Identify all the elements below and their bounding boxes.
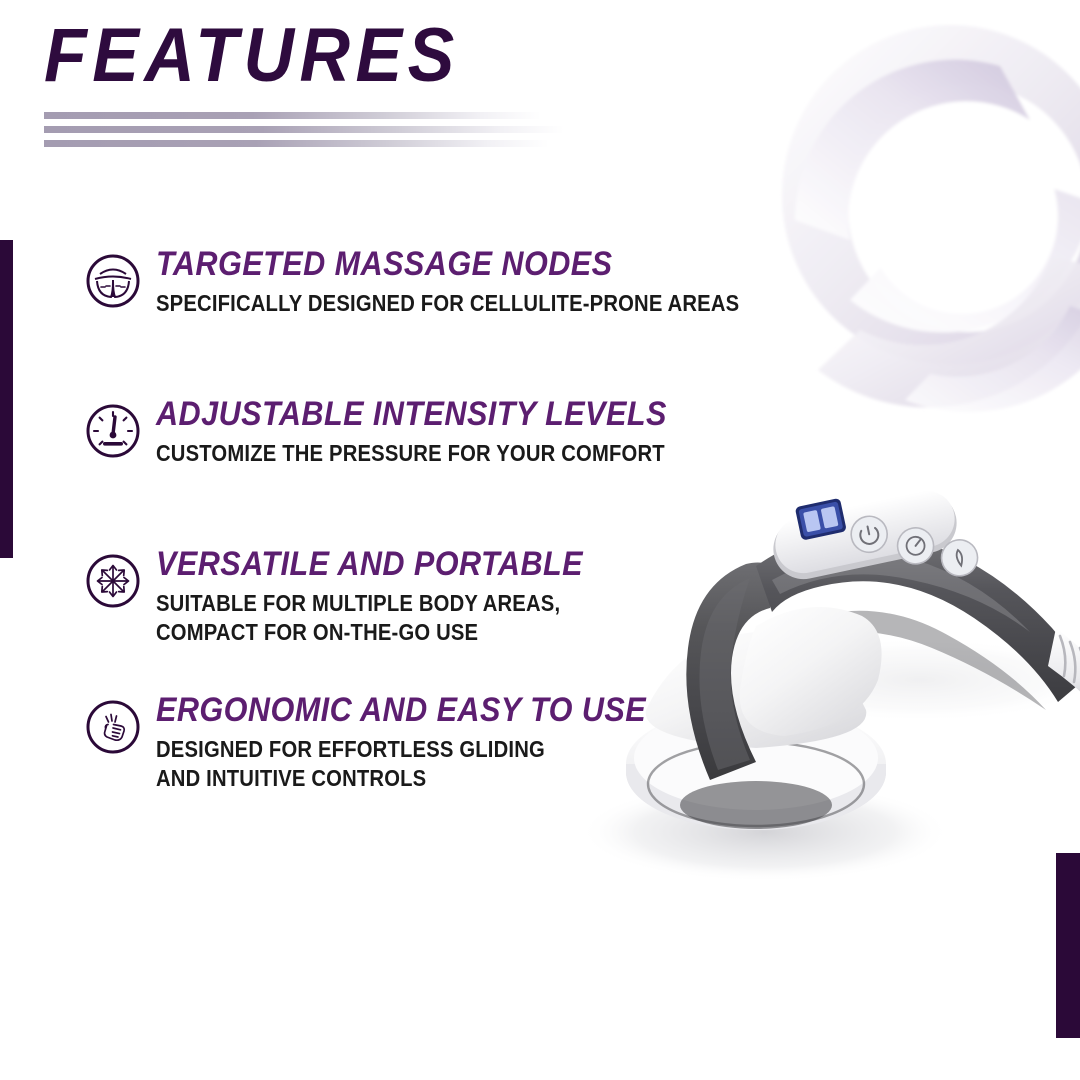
- title-block: FEATURES: [44, 18, 574, 154]
- page-title: FEATURES: [44, 18, 532, 94]
- infographic-canvas: FEATURES TARG: [0, 0, 1080, 1080]
- feature-desc-line: SUITABLE FOR MULTIPLE BODY AREAS,: [156, 589, 638, 618]
- right-accent-bar: [1056, 853, 1080, 1038]
- title-rule-2: [44, 126, 564, 133]
- led-display: [795, 498, 847, 541]
- control-panel: [768, 486, 981, 585]
- feature-desc-line: DESIGNED FOR EFFORTLESS GLIDING: [156, 735, 638, 764]
- feature-text: TARGETED MASSAGE NODES SPECIFICALLY DESI…: [156, 240, 819, 318]
- massager-neck: [740, 607, 882, 736]
- feature-text: VERSATILE AND PORTABLE SUITABLE FOR MULT…: [156, 540, 704, 648]
- feature-item: ERGONOMIC AND EASY TO USE DESIGNED FOR E…: [84, 686, 704, 794]
- title-underline-rules: [44, 112, 574, 147]
- massager-handle: [756, 531, 1080, 710]
- feature-title: ERGONOMIC AND EASY TO USE: [156, 692, 649, 729]
- feature-description: SPECIFICALLY DESIGNED FOR CELLULITE-PRON…: [156, 289, 739, 318]
- title-rule-1: [44, 112, 541, 119]
- feature-desc-line: CUSTOMIZE THE PRESSURE FOR YOUR COMFORT: [156, 439, 665, 468]
- power-button: [848, 513, 891, 556]
- hand-gesture-icon: [84, 698, 142, 756]
- feature-desc-line: AND INTUITIVE CONTROLS: [156, 764, 638, 793]
- multi-direction-arrows-icon: [84, 552, 142, 610]
- feature-title: TARGETED MASSAGE NODES: [156, 246, 753, 283]
- gauge-icon: [84, 402, 142, 460]
- feature-description: DESIGNED FOR EFFORTLESS GLIDING AND INTU…: [156, 735, 638, 794]
- feature-item: TARGETED MASSAGE NODES SPECIFICALLY DESI…: [84, 240, 704, 318]
- feature-title: VERSATILE AND PORTABLE: [156, 546, 649, 583]
- speed-button: [894, 524, 937, 567]
- feature-description: SUITABLE FOR MULTIPLE BODY AREAS, COMPAC…: [156, 589, 638, 648]
- feature-text: ERGONOMIC AND EASY TO USE DESIGNED FOR E…: [156, 686, 704, 794]
- feature-description: CUSTOMIZE THE PRESSURE FOR YOUR COMFORT: [156, 439, 665, 468]
- feature-text: ADJUSTABLE INTENSITY LEVELS CUSTOMIZE TH…: [156, 390, 734, 468]
- body-contour-icon: [84, 252, 142, 310]
- feature-item: ADJUSTABLE INTENSITY LEVELS CUSTOMIZE TH…: [84, 390, 704, 468]
- heat-button: [938, 536, 981, 579]
- feature-desc-line: SPECIFICALLY DESIGNED FOR CELLULITE-PRON…: [156, 289, 739, 318]
- title-rule-3: [44, 140, 549, 147]
- feature-list: TARGETED MASSAGE NODES SPECIFICALLY DESI…: [84, 240, 704, 816]
- left-accent-bar: [0, 240, 13, 558]
- feature-title: ADJUSTABLE INTENSITY LEVELS: [156, 396, 676, 433]
- feature-item: VERSATILE AND PORTABLE SUITABLE FOR MULT…: [84, 540, 704, 648]
- power-cord: [1048, 628, 1080, 710]
- lavender-ribbon-swirl: [700, 0, 1080, 440]
- feature-desc-line: COMPACT FOR ON-THE-GO USE: [156, 618, 638, 647]
